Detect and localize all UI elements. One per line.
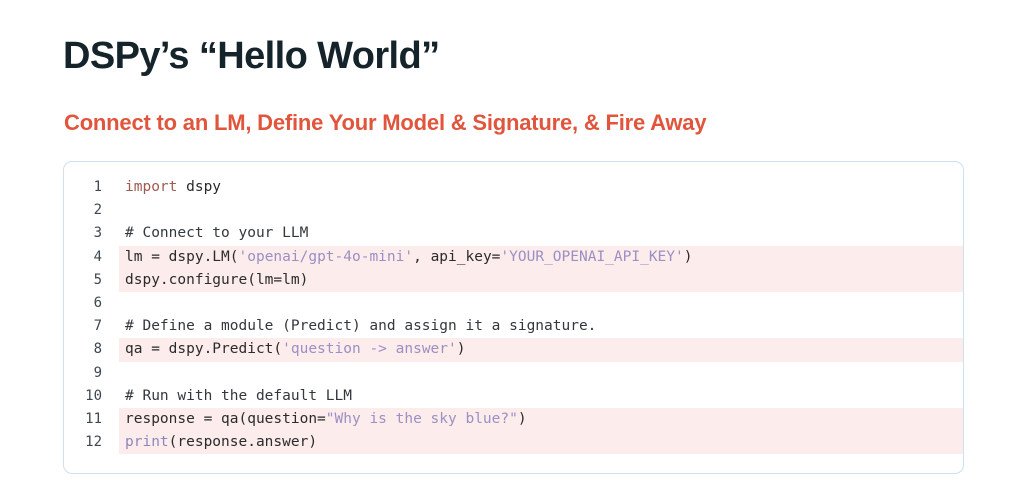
code-line-text[interactable]: response = qa(question="Why is the sky b… xyxy=(119,408,963,431)
code-line-text[interactable]: import dspy xyxy=(119,176,963,199)
code-line: 5dspy.configure(lm=lm) xyxy=(64,269,963,292)
code-token: dspy xyxy=(177,179,221,195)
code-line-text[interactable]: # Connect to your LLM xyxy=(119,222,963,245)
code-line-text[interactable] xyxy=(119,362,963,385)
line-number: 11 xyxy=(64,408,119,431)
line-number: 4 xyxy=(64,246,119,269)
line-number: 12 xyxy=(64,431,119,454)
code-token: response = qa(question= xyxy=(125,411,326,427)
code-line: 3# Connect to your LLM xyxy=(64,222,963,245)
code-line-text[interactable]: # Define a module (Predict) and assign i… xyxy=(119,315,963,338)
code-line: 8qa = dspy.Predict('question -> answer') xyxy=(64,338,963,361)
code-token: print xyxy=(125,434,169,450)
line-number: 2 xyxy=(64,199,119,222)
code-line: 6 xyxy=(64,292,963,315)
code-line: 9 xyxy=(64,362,963,385)
code-token: "Why is the sky blue?" xyxy=(326,411,518,427)
code-token: dspy.configure(lm=lm) xyxy=(125,272,308,288)
line-number: 9 xyxy=(64,362,119,385)
code-token: 'openai/gpt-4o-mini' xyxy=(239,249,414,265)
line-number: 7 xyxy=(64,315,119,338)
slide-root: DSPy’s “Hello World” Connect to an LM, D… xyxy=(0,0,1024,489)
line-number: 5 xyxy=(64,269,119,292)
code-token: lm = dspy.LM( xyxy=(125,249,239,265)
page-subtitle: Connect to an LM, Define Your Model & Si… xyxy=(64,110,706,136)
code-token: ) xyxy=(457,341,466,357)
line-number: 1 xyxy=(64,176,119,199)
code-line-text[interactable]: lm = dspy.LM('openai/gpt-4o-mini', api_k… xyxy=(119,246,963,269)
line-number: 6 xyxy=(64,292,119,315)
code-line: 7# Define a module (Predict) and assign … xyxy=(64,315,963,338)
code-line: 1import dspy xyxy=(64,176,963,199)
code-line: 11response = qa(question="Why is the sky… xyxy=(64,408,963,431)
code-token: ) xyxy=(518,411,527,427)
code-token: # Define a module (Predict) and assign i… xyxy=(125,318,596,334)
page-title: DSPy’s “Hello World” xyxy=(63,36,440,78)
code-line-text[interactable]: qa = dspy.Predict('question -> answer') xyxy=(119,338,963,361)
line-number: 10 xyxy=(64,385,119,408)
code-token: import xyxy=(125,179,177,195)
code-line-text[interactable]: dspy.configure(lm=lm) xyxy=(119,269,963,292)
code-token: , api_key= xyxy=(413,249,500,265)
code-token: ) xyxy=(684,249,693,265)
code-block-card: 1import dspy2 3# Connect to your LLM4lm … xyxy=(63,161,964,474)
code-lines-container: 1import dspy2 3# Connect to your LLM4lm … xyxy=(64,162,963,473)
code-line-text[interactable] xyxy=(119,199,963,222)
line-number: 8 xyxy=(64,338,119,361)
code-line: 4lm = dspy.LM('openai/gpt-4o-mini', api_… xyxy=(64,246,963,269)
code-token: 'question -> answer' xyxy=(282,341,457,357)
line-number: 3 xyxy=(64,222,119,245)
code-line: 2 xyxy=(64,199,963,222)
code-line-text[interactable]: # Run with the default LLM xyxy=(119,385,963,408)
code-token: 'YOUR_OPENAI_API_KEY' xyxy=(500,249,683,265)
code-line-text[interactable] xyxy=(119,292,963,315)
code-line: 12print(response.answer) xyxy=(64,431,963,454)
code-token: # Connect to your LLM xyxy=(125,225,308,241)
code-line: 10# Run with the default LLM xyxy=(64,385,963,408)
code-token: qa = dspy.Predict( xyxy=(125,341,282,357)
code-token: # Run with the default LLM xyxy=(125,388,352,404)
code-token: (response.answer) xyxy=(169,434,317,450)
code-line-text[interactable]: print(response.answer) xyxy=(119,431,963,454)
